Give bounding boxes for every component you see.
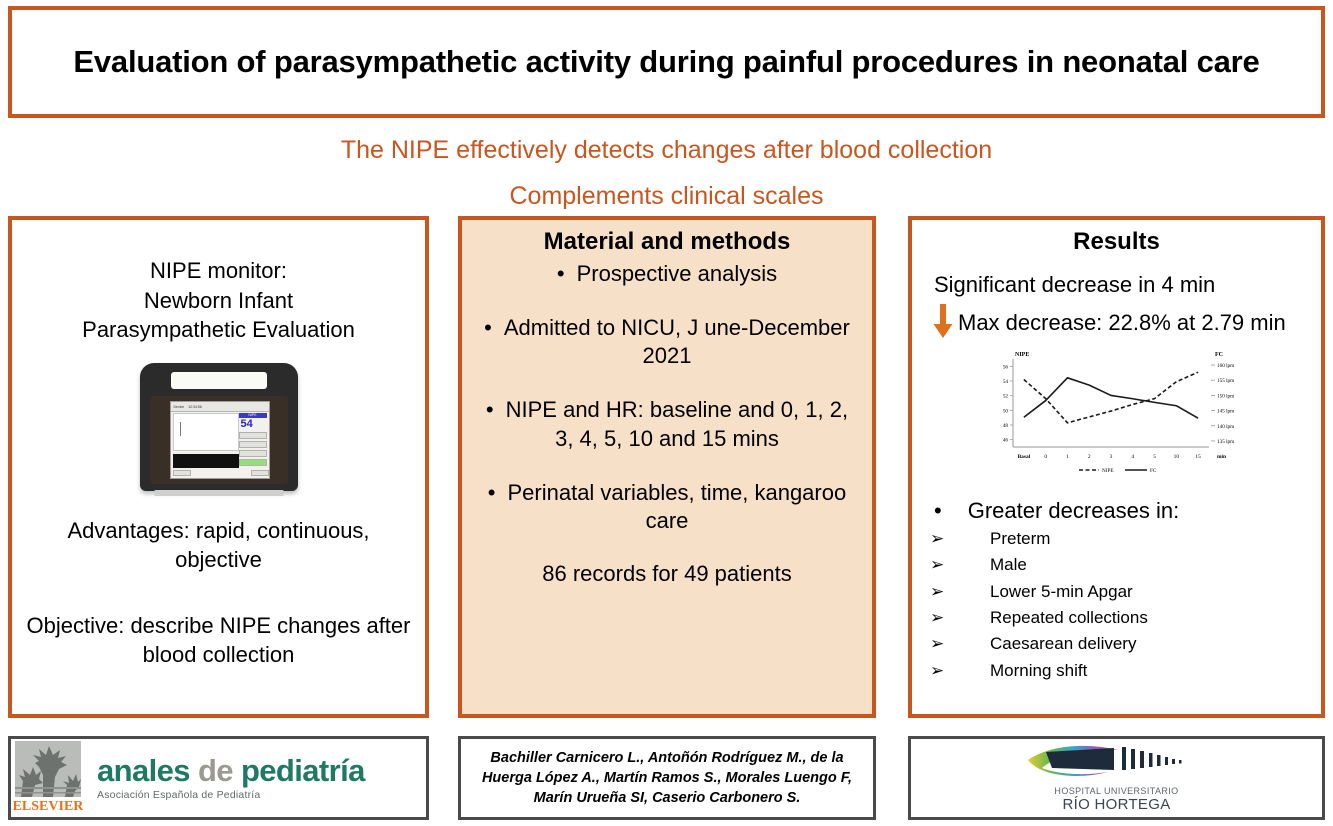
list-item: •Prospective analysis bbox=[462, 260, 872, 288]
monitor-screen-time-label: 12:34:56 bbox=[188, 405, 202, 409]
arrowhead-icon: ➢ bbox=[930, 631, 990, 657]
list-item: ➢ Lower 5-min Apgar bbox=[930, 579, 1321, 605]
svg-text:52: 52 bbox=[1002, 394, 1008, 400]
panel-results: Results Significant decrease in 4 min Ma… bbox=[908, 216, 1325, 718]
list-item-label: Repeated collections bbox=[990, 605, 1148, 631]
list-item-label: Preterm bbox=[990, 526, 1050, 552]
svg-text:0: 0 bbox=[1044, 454, 1047, 460]
svg-text:140 lpm: 140 lpm bbox=[1217, 424, 1234, 430]
author-citation: Bachiller Carnicero L., Antoñón Rodrígue… bbox=[461, 748, 873, 808]
down-arrow-icon bbox=[930, 304, 956, 345]
left-objective-text: Objective: describe NIPE changes after b… bbox=[12, 612, 425, 669]
list-item: ➢ Male bbox=[930, 552, 1321, 578]
monitor-handle bbox=[171, 372, 267, 389]
journal-word-pediatria: pediatría bbox=[241, 753, 365, 788]
svg-text:2: 2 bbox=[1087, 454, 1090, 460]
svg-text:3: 3 bbox=[1109, 454, 1112, 460]
subtitle-primary: The NIPE effectively detects changes aft… bbox=[0, 137, 1333, 165]
results-significant-decrease-text: Significant decrease in 4 min bbox=[934, 272, 1321, 298]
monitor-screen-trend-plot bbox=[173, 413, 239, 451]
hospital-logo-block: HOSPITAL UNIVERSITARIO RÍO HORTEGA bbox=[911, 744, 1322, 812]
subtitle-secondary: Complements clinical scales bbox=[0, 183, 1333, 211]
list-item-label: Lower 5-min Apgar bbox=[990, 579, 1133, 605]
list-item: •Admitted to NICU, J une-December 2021 bbox=[462, 314, 872, 370]
svg-text:46: 46 bbox=[1002, 438, 1008, 444]
svg-text:10: 10 bbox=[1173, 454, 1179, 460]
list-item-label: Morning shift bbox=[990, 658, 1087, 684]
results-greater-decreases-heading: •Greater decreases in: bbox=[934, 498, 1321, 524]
left-heading-line-1: NIPE monitor: bbox=[12, 256, 425, 286]
list-item-label: Male bbox=[990, 552, 1027, 578]
monitor-screen-button-3 bbox=[239, 450, 267, 457]
svg-text:min: min bbox=[1217, 454, 1226, 460]
svg-text:54: 54 bbox=[1002, 379, 1008, 385]
svg-text:48: 48 bbox=[1002, 423, 1008, 429]
monitor-screen-topbar: Device 12:34:56 bbox=[171, 402, 269, 412]
footer-hospital-logo: HOSPITAL UNIVERSITARIO RÍO HORTEGA bbox=[908, 736, 1325, 820]
svg-text:150 lpm: 150 lpm bbox=[1217, 393, 1234, 399]
monitor-screen-waveform bbox=[173, 454, 239, 468]
left-heading-line-2: Newborn Infant bbox=[12, 286, 425, 316]
monitor-screen-button-1 bbox=[239, 432, 267, 439]
list-item: ➢ Caesarean delivery bbox=[930, 631, 1321, 657]
arrowhead-icon: ➢ bbox=[930, 658, 990, 684]
hospital-name-line-1: HOSPITAL UNIVERSITARIO bbox=[911, 787, 1322, 796]
nipe-fc-line-chart: NIPE565452504846FC160 lpm155 lpm150 lpm1… bbox=[967, 347, 1267, 492]
list-item: ➢ Morning shift bbox=[930, 658, 1321, 684]
monitor-screen-sidebar: NIPE 54 bbox=[239, 413, 267, 471]
panel-nipe-monitor: NIPE monitor: Newborn Infant Parasympath… bbox=[8, 216, 429, 718]
middle-panel-title: Material and methods bbox=[462, 228, 872, 256]
list-item: ➢ Repeated collections bbox=[930, 605, 1321, 631]
list-item-label: Admitted to NICU, J une-December 2021 bbox=[504, 315, 850, 368]
page-title: Evaluation of parasympathetic activity d… bbox=[55, 43, 1277, 81]
monitor-screen-button-start bbox=[239, 459, 267, 466]
svg-text:NIPE: NIPE bbox=[1102, 468, 1114, 474]
monitor-bezel: Device 12:34:56 NIPE 54 bbox=[150, 396, 288, 484]
list-item-label: Prospective analysis bbox=[577, 261, 778, 286]
list-item-label: Caesarean delivery bbox=[990, 631, 1136, 657]
records-total-text: 86 records for 49 patients bbox=[462, 561, 872, 587]
list-item: ➢ Preterm bbox=[930, 526, 1321, 552]
svg-text:1: 1 bbox=[1066, 454, 1069, 460]
left-panel-heading: NIPE monitor: Newborn Infant Parasympath… bbox=[12, 256, 425, 345]
journal-title-block: anales de pediatría Asociación Española … bbox=[97, 755, 365, 801]
footer-journal-logo: ELSEVIER anales de pediatría Asociación … bbox=[8, 736, 429, 820]
svg-text:15: 15 bbox=[1195, 454, 1201, 460]
monitor-screen-nipe-value: 54 bbox=[239, 418, 267, 430]
left-advantages-text: Advantages: rapid, continuous, objective bbox=[12, 517, 425, 574]
monitor-image-wrap: Device 12:34:56 NIPE 54 bbox=[12, 363, 425, 491]
results-greater-decreases-label: Greater decreases in: bbox=[968, 498, 1180, 523]
arrowhead-icon: ➢ bbox=[930, 526, 990, 552]
nipe-monitor-device-image: Device 12:34:56 NIPE 54 bbox=[140, 363, 298, 491]
arrowhead-icon: ➢ bbox=[930, 552, 990, 578]
hospital-name-line-2: RÍO HORTEGA bbox=[911, 797, 1322, 812]
results-max-decrease-row: Max decrease: 22.8% at 2.79 min bbox=[930, 300, 1321, 345]
journal-word-de: de bbox=[198, 753, 233, 788]
svg-text:56: 56 bbox=[1002, 364, 1008, 370]
bullet-icon: • bbox=[934, 498, 942, 523]
list-item-label: Perinatal variables, time, kangaroo care bbox=[507, 480, 846, 533]
svg-text:155 lpm: 155 lpm bbox=[1217, 378, 1234, 384]
monitor-screen-bottom-button-right bbox=[251, 470, 269, 476]
monitor-screen-bottom-button-left bbox=[173, 470, 191, 476]
svg-text:FC: FC bbox=[1150, 468, 1157, 474]
bullet-icon: • bbox=[484, 315, 492, 340]
monitor-base bbox=[154, 490, 284, 496]
svg-text:145 lpm: 145 lpm bbox=[1217, 409, 1234, 415]
svg-text:5: 5 bbox=[1153, 454, 1156, 460]
svg-text:135 lpm: 135 lpm bbox=[1217, 439, 1234, 445]
svg-text:FC: FC bbox=[1215, 352, 1223, 358]
svg-text:4: 4 bbox=[1131, 454, 1134, 460]
journal-word-anales: anales bbox=[97, 753, 190, 788]
results-factor-list: ➢ Preterm ➢ Male ➢ Lower 5-min Apgar ➢ R… bbox=[912, 526, 1321, 684]
arrowhead-icon: ➢ bbox=[930, 579, 990, 605]
results-max-decrease-text: Max decrease: 22.8% at 2.79 min bbox=[958, 310, 1286, 336]
svg-text:Basal: Basal bbox=[1017, 454, 1030, 460]
svg-text:160 lpm: 160 lpm bbox=[1217, 363, 1234, 369]
right-panel-title: Results bbox=[912, 228, 1321, 256]
list-item-label: NIPE and HR: baseline and 0, 1, 2, 3, 4,… bbox=[506, 397, 848, 450]
bullet-icon: • bbox=[557, 261, 565, 286]
elsevier-tree-icon: ELSEVIER bbox=[13, 741, 83, 815]
svg-text:ELSEVIER: ELSEVIER bbox=[13, 799, 83, 814]
journal-association: Asociación Española de Pediatría bbox=[97, 790, 365, 801]
monitor-screen-bottom-buttons bbox=[173, 470, 269, 476]
list-item: •Perinatal variables, time, kangaroo car… bbox=[462, 479, 872, 535]
left-heading-line-3: Parasympathetic Evaluation bbox=[12, 315, 425, 345]
list-item: •NIPE and HR: baseline and 0, 1, 2, 3, 4… bbox=[462, 396, 872, 452]
methods-bullet-list: •Prospective analysis •Admitted to NICU,… bbox=[462, 260, 872, 535]
panel-material-and-methods: Material and methods •Prospective analys… bbox=[458, 216, 876, 718]
monitor-screen-button-2 bbox=[239, 441, 267, 448]
bullet-icon: • bbox=[488, 480, 496, 505]
journal-title: anales de pediatría bbox=[97, 755, 365, 786]
hospital-swoosh-icon bbox=[1022, 767, 1212, 784]
monitor-screen: Device 12:34:56 NIPE 54 bbox=[170, 401, 270, 479]
arrowhead-icon: ➢ bbox=[930, 605, 990, 631]
bullet-icon: • bbox=[486, 397, 494, 422]
title-box: Evaluation of parasympathetic activity d… bbox=[8, 6, 1325, 118]
svg-text:50: 50 bbox=[1002, 408, 1008, 414]
chart-svg: NIPE565452504846FC160 lpm155 lpm150 lpm1… bbox=[967, 347, 1267, 487]
footer-citation-box: Bachiller Carnicero L., Antoñón Rodrígue… bbox=[458, 736, 876, 820]
monitor-screen-device-label: Device bbox=[174, 405, 185, 409]
svg-text:NIPE: NIPE bbox=[1015, 352, 1029, 358]
